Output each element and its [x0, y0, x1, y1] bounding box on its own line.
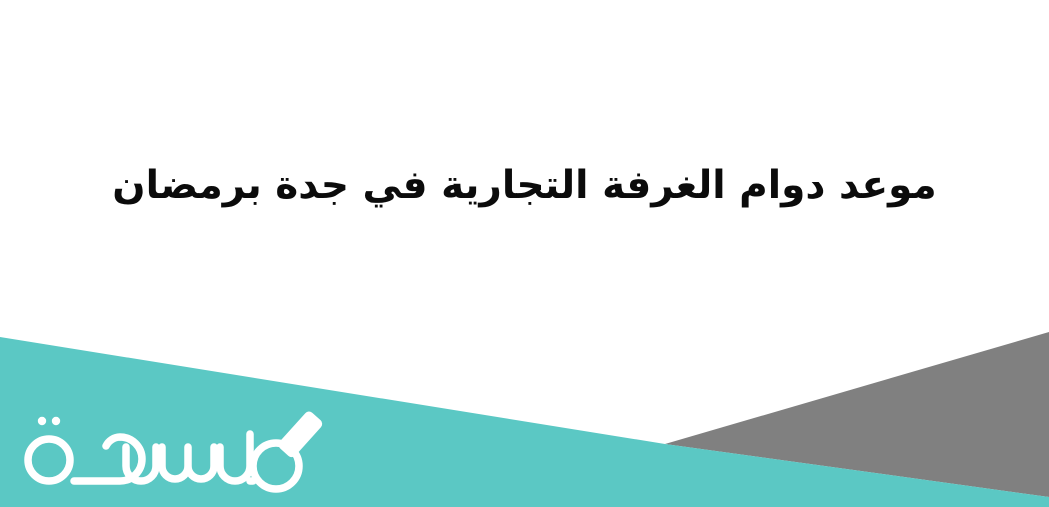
logo-letter-seen	[162, 447, 214, 479]
brand-logo[interactable]	[14, 404, 344, 496]
image-canvas: موعد دوام الغرفة التجارية في جدة برمضان	[0, 0, 1049, 507]
logo-letter-ta-marbuta	[28, 439, 70, 481]
magnifier-handle-icon	[277, 409, 325, 459]
logo-ta-marbuta-dots	[38, 417, 60, 425]
logo-letter-waw-2	[220, 434, 250, 481]
